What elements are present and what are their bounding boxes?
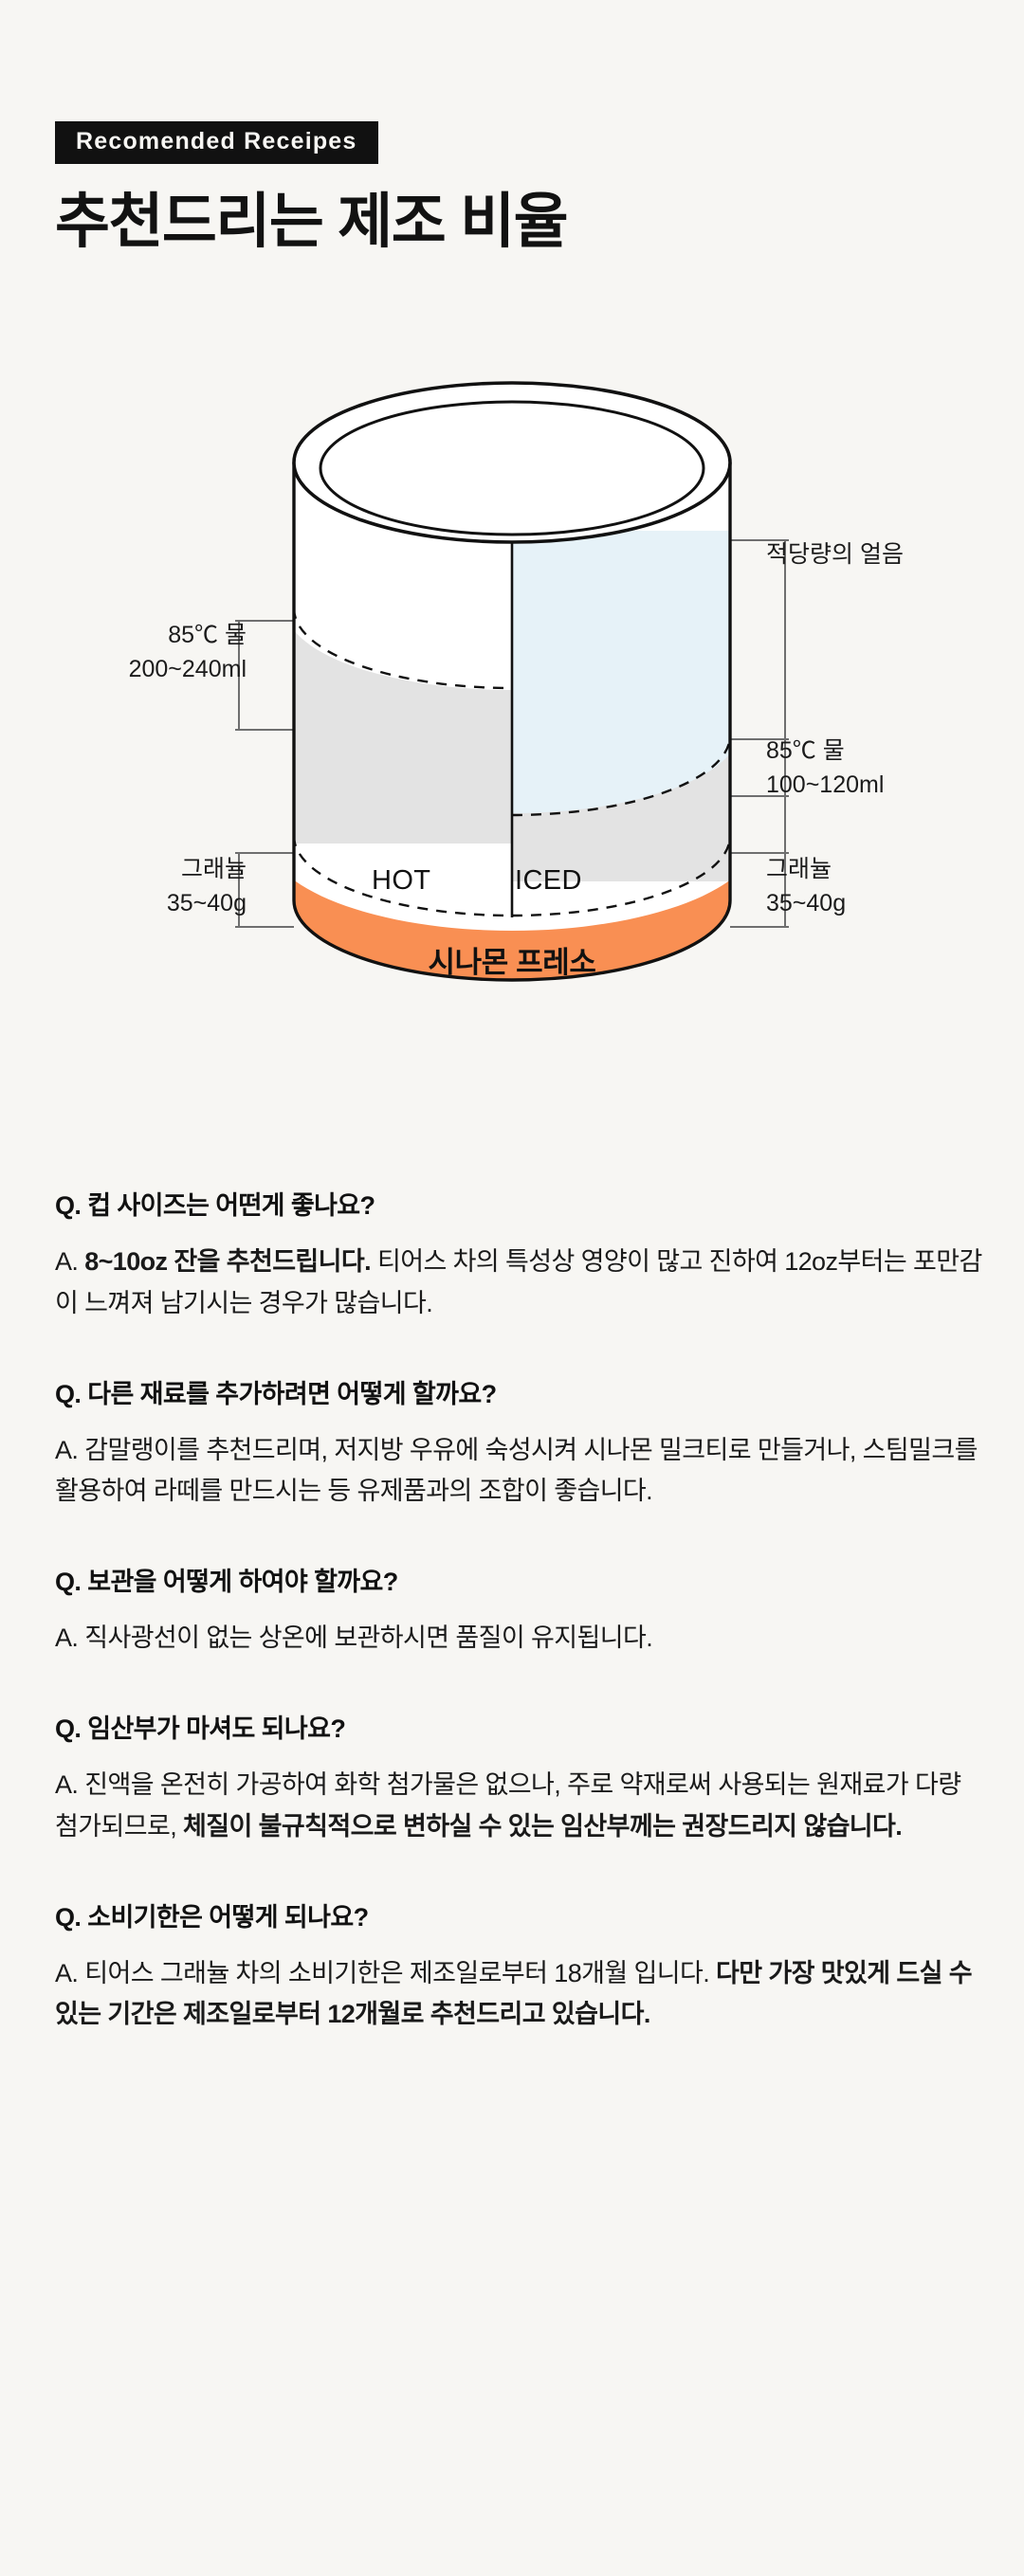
faq-answer: A. 8~10oz 잔을 추천드립니다. 티어스 차의 특성상 영양이 많고 진…	[55, 1242, 984, 1324]
label-hot-granule: 그래뉼 35~40g	[0, 853, 247, 920]
cup-hot-label: HOT	[372, 865, 430, 897]
faq-question: Q. 소비기한은 어떻게 되나요?	[55, 1901, 984, 1934]
cup-ratio-diagram: 85℃ 물 200~240ml 그래뉼 35~40g 적당량의 얼음 85℃ 물…	[0, 351, 1024, 1052]
faq-item: Q. 보관을 어떻게 하여야 할까요? A. 직사광선이 없는 상온에 보관하시…	[55, 1566, 984, 1660]
faq-question: Q. 보관을 어떻게 하여야 할까요?	[55, 1566, 984, 1599]
label-ice: 적당량의 얼음	[766, 538, 904, 572]
label-iced-granule-line1: 그래뉼	[766, 853, 846, 887]
faq-answer: A. 감말랭이를 추천드리며, 저지방 우유에 숙성시켜 시나몬 밀크티로 만들…	[55, 1430, 984, 1513]
label-iced-granule: 그래뉼 35~40g	[766, 853, 846, 920]
faq-item: Q. 컵 사이즈는 어떤게 좋나요? A. 8~10oz 잔을 추천드립니다. …	[55, 1189, 984, 1325]
cup-rim-inner	[320, 402, 704, 535]
faq-item: Q. 다른 재료를 추가하려면 어떻게 할까요? A. 감말랭이를 추천드리며,…	[55, 1378, 984, 1514]
label-iced-granule-line2: 35~40g	[766, 887, 846, 921]
faq-item: Q. 소비기한은 어떻게 되나요? A. 티어스 그래뉼 차의 소비기한은 제조…	[55, 1901, 984, 2037]
page-title: 추천드리는 제조 비율	[55, 189, 567, 256]
faq-answer-part: A.	[55, 1247, 84, 1276]
faq-answer-emphasis: 체질이 불규칙적으로 변하실 수 있는 임산부께는 권장드리지 않습니다.	[183, 1812, 902, 1841]
faq-answer-part: A. 직사광선이 없는 상온에 보관하시면 품질이 유지됩니다.	[55, 1624, 652, 1652]
iced-ice-fill	[512, 531, 740, 815]
faq-section: Q. 컵 사이즈는 어떤게 좋나요? A. 8~10oz 잔을 추천드립니다. …	[55, 1189, 984, 2036]
section-badge: Recomended Receipes	[55, 121, 378, 164]
label-iced-water-line2: 100~120ml	[766, 769, 884, 803]
faq-item: Q. 임산부가 마셔도 되나요? A. 진액을 온전히 가공하여 화학 첨가물은…	[55, 1713, 984, 1848]
faq-answer: A. 진액을 온전히 가공하여 화학 첨가물은 없으나, 주로 약재로써 사용되…	[55, 1765, 984, 1847]
faq-question: Q. 컵 사이즈는 어떤게 좋나요?	[55, 1189, 984, 1223]
faq-answer-emphasis: 8~10oz 잔을 추천드립니다.	[84, 1247, 371, 1276]
faq-question: Q. 다른 재료를 추가하려면 어떻게 할까요?	[55, 1378, 984, 1411]
cup-base-label: 시나몬 프레소	[0, 938, 1024, 981]
label-hot-water-line2: 200~240ml	[0, 653, 247, 687]
label-iced-water-line1: 85℃ 물	[766, 735, 884, 769]
faq-answer-part: A. 티어스 그래뉼 차의 소비기한은 제조일로부터 18개월 입니다.	[55, 1959, 716, 1987]
label-hot-water-line1: 85℃ 물	[0, 619, 247, 653]
label-ice-line1: 적당량의 얼음	[766, 538, 904, 572]
label-hot-granule-line2: 35~40g	[0, 887, 247, 921]
faq-answer-part: A. 감말랭이를 추천드리며, 저지방 우유에 숙성시켜 시나몬 밀크티로 만들…	[55, 1436, 978, 1506]
faq-answer: A. 티어스 그래뉼 차의 소비기한은 제조일로부터 18개월 입니다. 다만 …	[55, 1953, 984, 2036]
page-header: Recomended Receipes 추천드리는 제조 비율	[55, 121, 567, 256]
label-hot-granule-line1: 그래뉼	[0, 853, 247, 887]
faq-question: Q. 임산부가 마셔도 되나요?	[55, 1713, 984, 1746]
faq-answer: A. 직사광선이 없는 상온에 보관하시면 품질이 유지됩니다.	[55, 1618, 984, 1660]
label-iced-water: 85℃ 물 100~120ml	[766, 735, 884, 802]
label-hot-water: 85℃ 물 200~240ml	[0, 619, 247, 686]
cup-iced-label: ICED	[515, 865, 582, 897]
